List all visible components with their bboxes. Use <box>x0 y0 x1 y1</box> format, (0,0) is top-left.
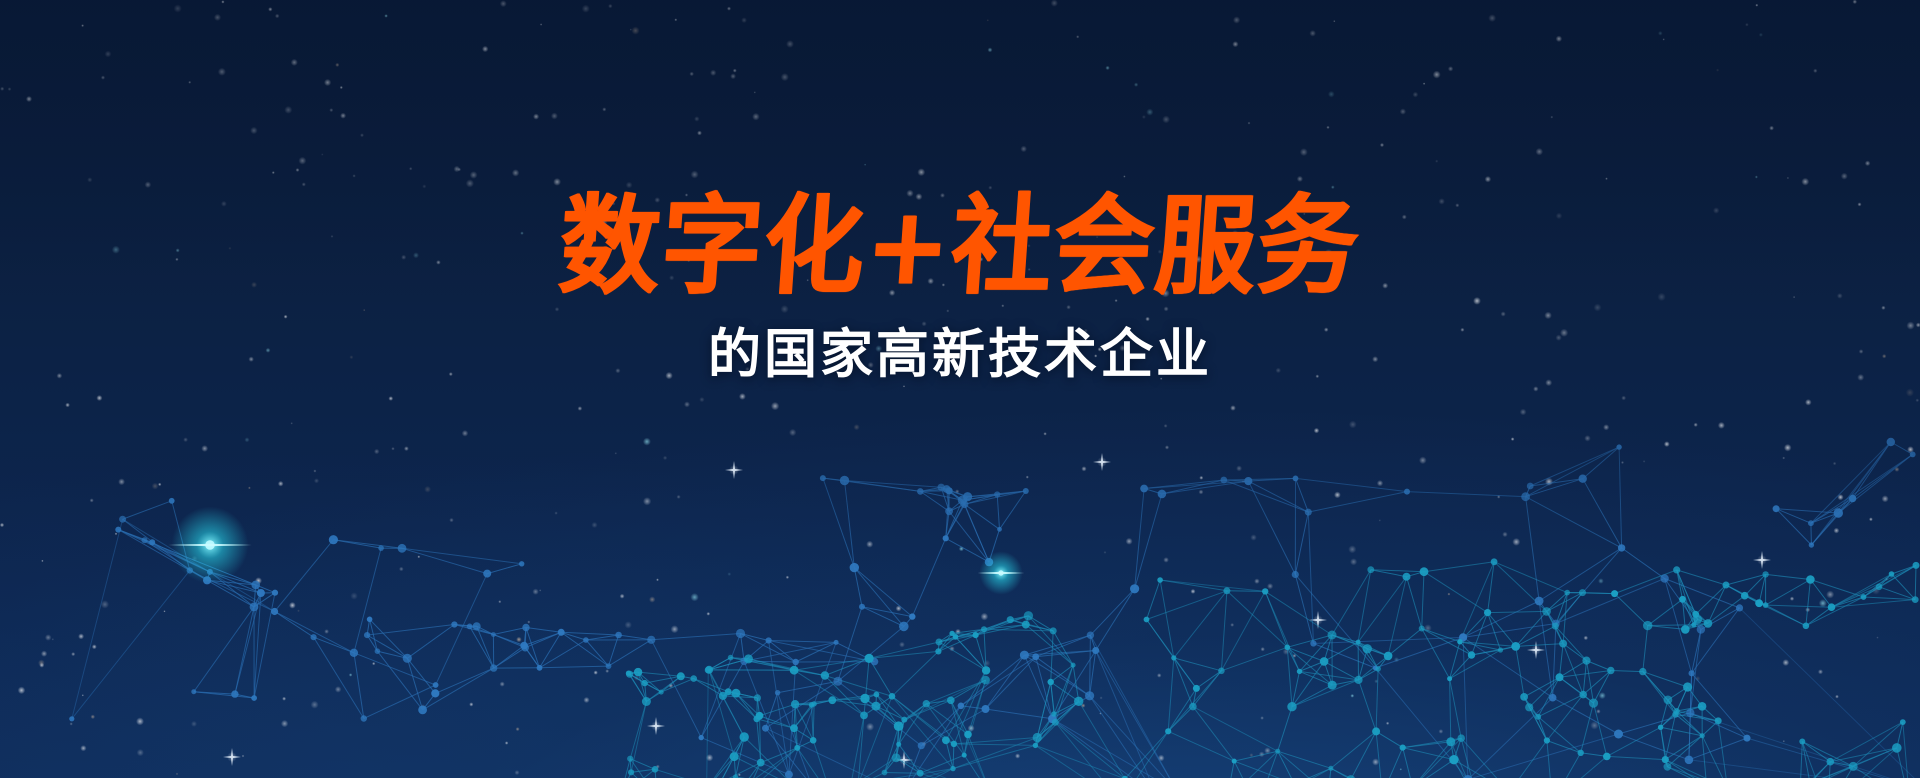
hero-banner: 数字化+社会服务 的国家高新技术企业 <box>0 0 1920 778</box>
page-subtitle: 的国家高新技术企业 <box>0 312 1920 388</box>
hero-text-block: 数字化+社会服务 的国家高新技术企业 <box>0 196 1920 388</box>
network-mesh <box>0 0 1920 778</box>
page-title: 数字化+社会服务 <box>0 192 1920 302</box>
